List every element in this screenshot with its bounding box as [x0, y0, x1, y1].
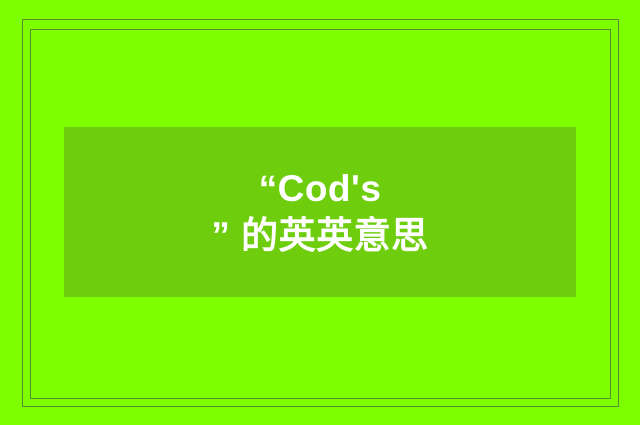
- title-line-primary: “Cod's: [259, 170, 382, 207]
- title-line-secondary: ” 的英英意思: [211, 217, 428, 254]
- content-panel: “Cod's ” 的英英意思: [64, 127, 576, 297]
- card-canvas: “Cod's ” 的英英意思: [0, 0, 640, 425]
